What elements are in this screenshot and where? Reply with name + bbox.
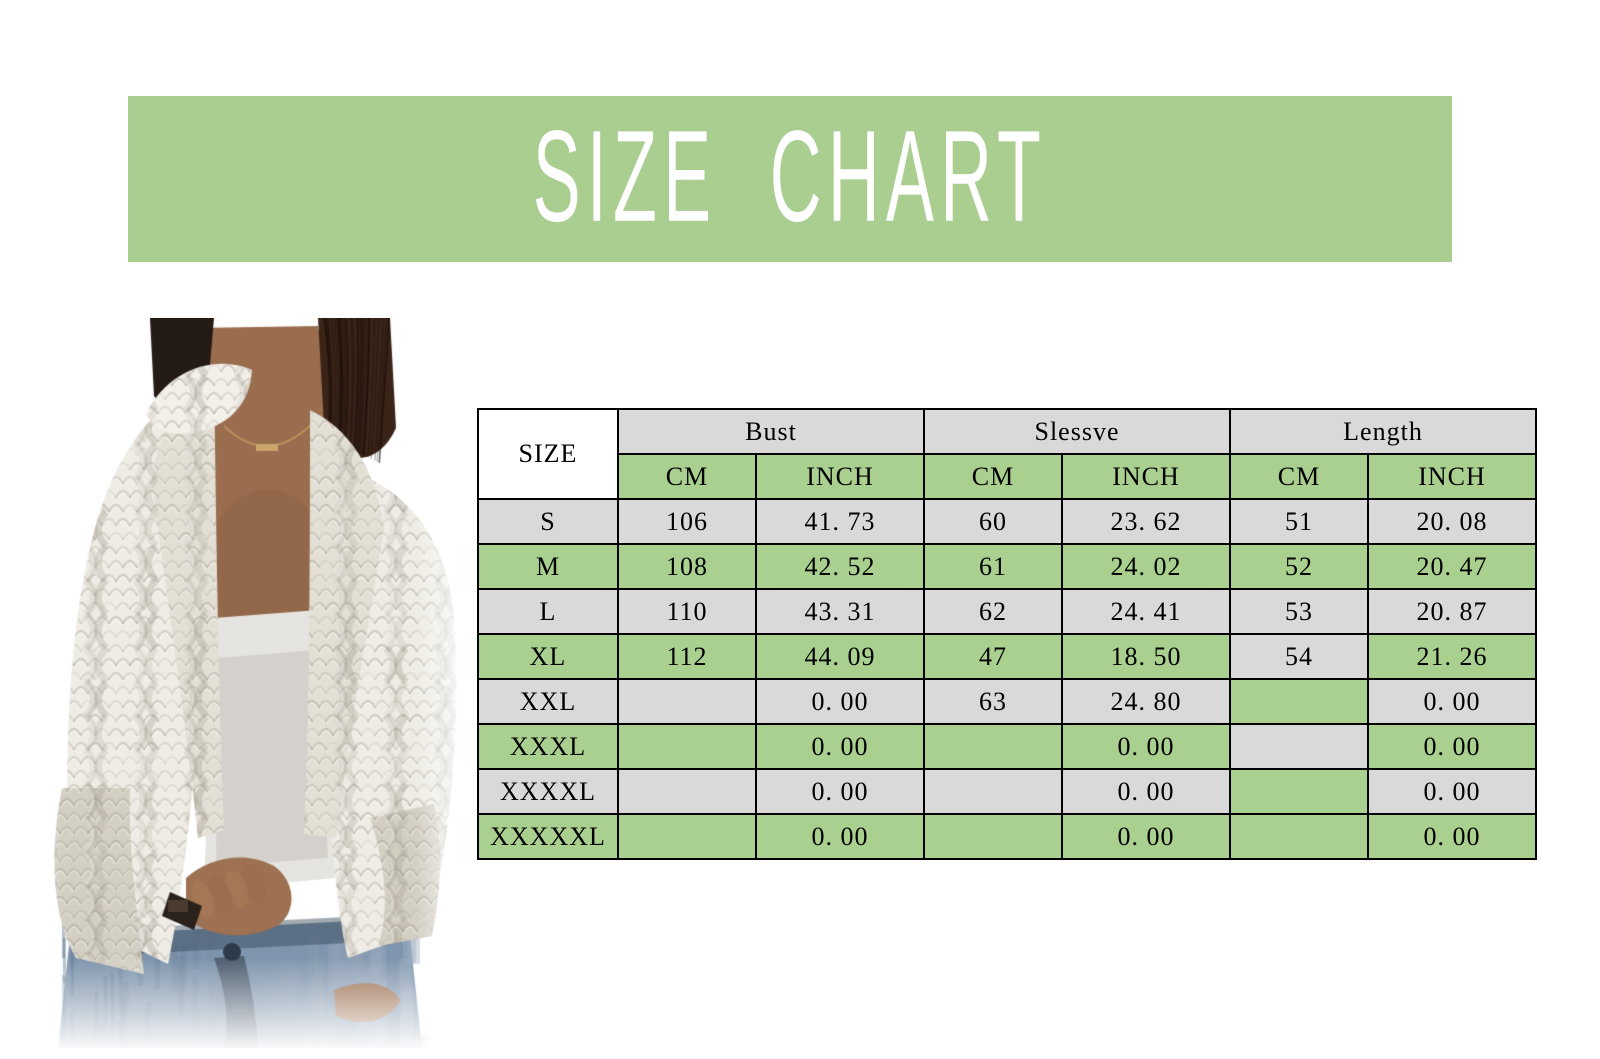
cell-length-cm-m: 52	[1230, 544, 1368, 589]
cell-sleeve-cm-xl: 47	[924, 634, 1062, 679]
cell-size-label-xxxxxl: XXXXXL	[478, 814, 618, 859]
size-chart-table: SIZE Bust Slessve Length CM INCH CM INCH…	[477, 408, 1537, 860]
cell-sleeve-inch-xxl: 24. 80	[1062, 679, 1230, 724]
cell-sleeve-inch-xxxxl: 0. 00	[1062, 769, 1230, 814]
cell-length-inch-xxxxxl: 0. 00	[1368, 814, 1536, 859]
table-header-row-units: CM INCH CM INCH CM INCH	[478, 454, 1536, 499]
table-row: XXL0. 006324. 800. 00	[478, 679, 1536, 724]
cell-length-inch-l: 20. 87	[1368, 589, 1536, 634]
table-row: XL11244. 094718. 505421. 26	[478, 634, 1536, 679]
cell-size-label-l: L	[478, 589, 618, 634]
cell-length-inch-s: 20. 08	[1368, 499, 1536, 544]
cell-length-cm-xxxl	[1230, 724, 1368, 769]
cell-length-inch-xxl: 0. 00	[1368, 679, 1536, 724]
cell-bust-cm-s: 106	[618, 499, 756, 544]
table-row: XXXXL0. 000. 000. 00	[478, 769, 1536, 814]
cell-sleeve-inch-m: 24. 02	[1062, 544, 1230, 589]
cell-size-label-xxxxl: XXXXL	[478, 769, 618, 814]
cell-bust-inch-xxxl: 0. 00	[756, 724, 924, 769]
header-sleeve-inch: INCH	[1062, 454, 1230, 499]
cell-sleeve-inch-xxxl: 0. 00	[1062, 724, 1230, 769]
cell-bust-cm-xl: 112	[618, 634, 756, 679]
size-chart-title-banner: SIZE CHART	[128, 96, 1452, 262]
page-title: SIZE CHART	[533, 111, 1047, 241]
product-photo-canvas	[18, 318, 460, 1048]
header-group-sleeve: Slessve	[924, 409, 1230, 454]
cell-length-inch-m: 20. 47	[1368, 544, 1536, 589]
table-row: S10641. 736023. 625120. 08	[478, 499, 1536, 544]
cell-bust-cm-xxxxxl	[618, 814, 756, 859]
cell-sleeve-cm-s: 60	[924, 499, 1062, 544]
cell-bust-inch-xxxxl: 0. 00	[756, 769, 924, 814]
cell-sleeve-inch-xxxxxl: 0. 00	[1062, 814, 1230, 859]
cell-length-inch-xl: 21. 26	[1368, 634, 1536, 679]
cell-length-cm-xxxxxl	[1230, 814, 1368, 859]
header-bust-cm: CM	[618, 454, 756, 499]
table-row: M10842. 526124. 025220. 47	[478, 544, 1536, 589]
cell-bust-inch-l: 43. 31	[756, 589, 924, 634]
table-row: XXXL0. 000. 000. 00	[478, 724, 1536, 769]
cell-size-label-xxl: XXL	[478, 679, 618, 724]
header-sleeve-cm: CM	[924, 454, 1062, 499]
cell-sleeve-inch-s: 23. 62	[1062, 499, 1230, 544]
cell-bust-cm-m: 108	[618, 544, 756, 589]
cell-size-label-xl: XL	[478, 634, 618, 679]
cell-bust-cm-xxxxl	[618, 769, 756, 814]
cell-sleeve-cm-m: 61	[924, 544, 1062, 589]
cell-sleeve-cm-xxxl	[924, 724, 1062, 769]
cell-sleeve-cm-xxxxxl	[924, 814, 1062, 859]
header-length-cm: CM	[1230, 454, 1368, 499]
cell-bust-cm-xxxl	[618, 724, 756, 769]
cell-bust-inch-m: 42. 52	[756, 544, 924, 589]
header-size: SIZE	[478, 409, 618, 499]
cell-sleeve-inch-xl: 18. 50	[1062, 634, 1230, 679]
cell-bust-inch-xxl: 0. 00	[756, 679, 924, 724]
cell-bust-inch-s: 41. 73	[756, 499, 924, 544]
cell-sleeve-cm-xxxxl	[924, 769, 1062, 814]
header-length-inch: INCH	[1368, 454, 1536, 499]
table-header-row-groups: SIZE Bust Slessve Length	[478, 409, 1536, 454]
cell-sleeve-cm-xxl: 63	[924, 679, 1062, 724]
table-row: XXXXXL0. 000. 000. 00	[478, 814, 1536, 859]
cell-size-label-m: M	[478, 544, 618, 589]
cell-sleeve-cm-l: 62	[924, 589, 1062, 634]
cell-length-cm-xl: 54	[1230, 634, 1368, 679]
cell-bust-cm-xxl	[618, 679, 756, 724]
header-group-bust: Bust	[618, 409, 924, 454]
cell-length-cm-xxl	[1230, 679, 1368, 724]
cell-length-cm-l: 53	[1230, 589, 1368, 634]
cell-bust-inch-xxxxxl: 0. 00	[756, 814, 924, 859]
cell-length-inch-xxxl: 0. 00	[1368, 724, 1536, 769]
product-photo	[18, 318, 460, 1048]
header-bust-inch: INCH	[756, 454, 924, 499]
header-group-length: Length	[1230, 409, 1536, 454]
cell-size-label-s: S	[478, 499, 618, 544]
table-row: L11043. 316224. 415320. 87	[478, 589, 1536, 634]
cell-length-cm-s: 51	[1230, 499, 1368, 544]
cell-bust-inch-xl: 44. 09	[756, 634, 924, 679]
size-chart-table-container: SIZE Bust Slessve Length CM INCH CM INCH…	[477, 408, 1445, 854]
cell-sleeve-inch-l: 24. 41	[1062, 589, 1230, 634]
cell-length-cm-xxxxl	[1230, 769, 1368, 814]
cell-bust-cm-l: 110	[618, 589, 756, 634]
cell-size-label-xxxl: XXXL	[478, 724, 618, 769]
cell-length-inch-xxxxl: 0. 00	[1368, 769, 1536, 814]
